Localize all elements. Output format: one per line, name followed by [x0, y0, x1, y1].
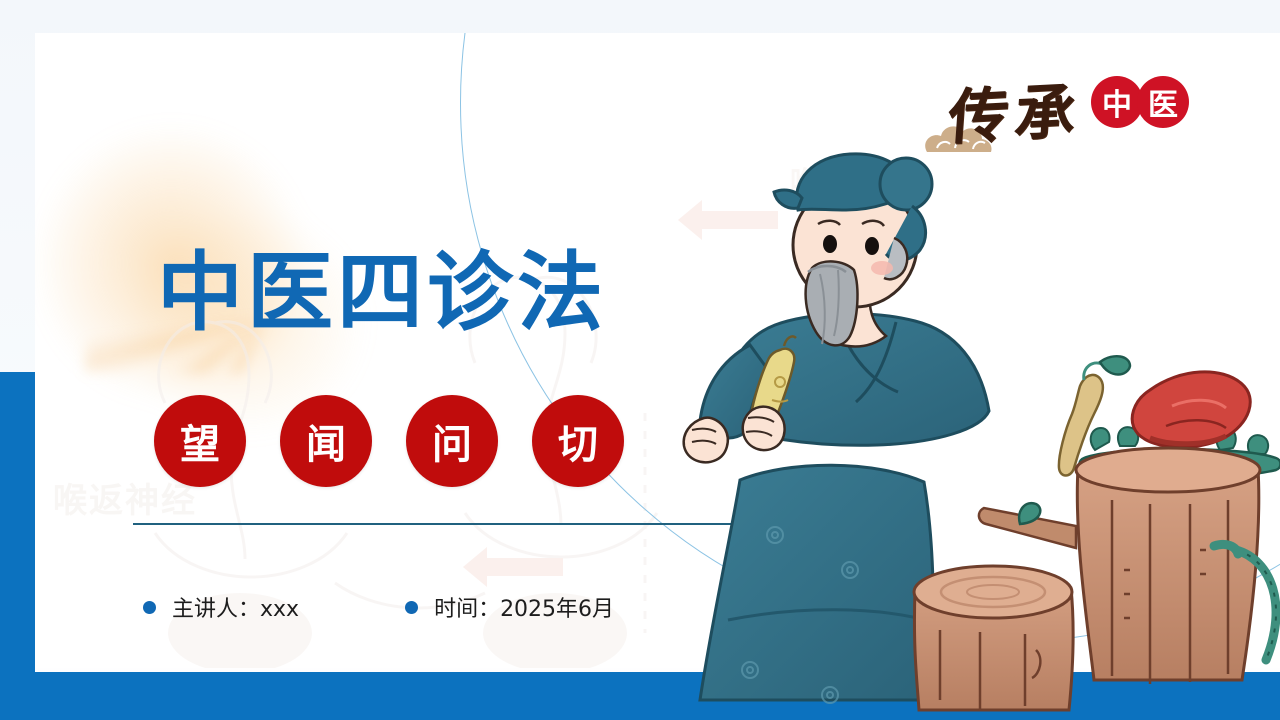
badge-label: 问: [432, 412, 472, 470]
slide-root: 喉 喉返神经 中医四诊法 望 闻 问 切 主讲人：xxx 时间：2025年6月: [0, 0, 1280, 720]
badge-label: 闻: [306, 412, 346, 470]
bullet-dot-icon: [143, 601, 156, 614]
badge-qie[interactable]: 切: [532, 395, 624, 487]
tree-stump: [914, 566, 1073, 710]
logo-script-text: 传承: [946, 63, 1085, 157]
badge-label: 切: [558, 412, 598, 470]
meta-row: 主讲人：xxx 时间：2025年6月: [143, 591, 614, 623]
seal-zhong: 中: [1091, 76, 1143, 128]
seal-yi: 医: [1137, 76, 1189, 128]
badge-wen[interactable]: 闻: [280, 395, 372, 487]
accent-band-left: [0, 372, 35, 720]
tcm-doctor-illustration: [680, 150, 1280, 720]
seal-char: 医: [1148, 80, 1178, 124]
badge-label: 望: [180, 412, 220, 470]
meta-item-date: 时间：2025年6月: [405, 591, 614, 623]
logo-seal-group: 中 医: [1091, 76, 1189, 128]
date-label: 时间：2025年6月: [434, 591, 614, 623]
page-title: 中医四诊法: [157, 248, 607, 338]
four-diagnostics-badges: 望 闻 问 切: [154, 395, 624, 487]
meta-item-presenter: 主讲人：xxx: [143, 591, 299, 623]
presenter-label: 主讲人：xxx: [172, 591, 299, 623]
watermark-arrow-2: [485, 558, 563, 576]
badge-wang[interactable]: 望: [154, 395, 246, 487]
badge-wenq[interactable]: 问: [406, 395, 498, 487]
seal-char: 中: [1102, 80, 1132, 124]
anatomy-watermark: [35, 113, 755, 668]
bullet-dot-icon: [405, 601, 418, 614]
